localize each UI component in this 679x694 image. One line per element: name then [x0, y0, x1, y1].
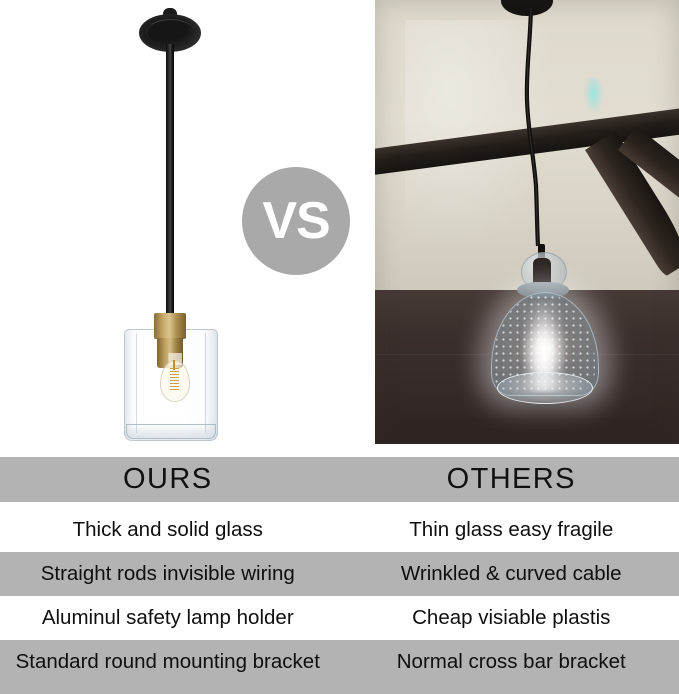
comparison-table: OURS OTHERS Thick and solid glass Thin g…	[0, 452, 679, 679]
cell-ours-3: Aluminul safety lamp holder	[0, 596, 344, 640]
photo-dome-bottom-rim	[497, 372, 593, 404]
brass-lamp-holder-upper	[154, 313, 186, 339]
wrinkled-curved-cable	[505, 8, 553, 246]
header-others: OTHERS	[344, 457, 679, 502]
comparison-infographic: VS	[0, 0, 679, 679]
others-product-image	[375, 0, 679, 444]
cell-others-1: Thin glass easy fragile	[344, 508, 679, 552]
table-footer-strip	[0, 684, 679, 694]
cell-others-4: Normal cross bar bracket	[344, 640, 679, 684]
cell-ours-2: Straight rods invisible wiring	[0, 552, 344, 596]
bulb-filament	[170, 368, 179, 392]
table-row: Straight rods invisible wiring Wrinkled …	[0, 552, 679, 596]
cell-ours-4: Standard round mounting bracket	[0, 640, 344, 684]
glass-inner-edge-left	[136, 333, 137, 433]
vs-badge-icon: VS	[242, 167, 350, 275]
photo-teal-reflection	[585, 78, 602, 112]
glass-bottom-rim	[126, 424, 216, 439]
vs-label: VS	[262, 195, 329, 247]
table-header-row: OURS OTHERS	[0, 457, 679, 502]
cell-others-3: Cheap visiable plastis	[344, 596, 679, 640]
cell-ours-1: Thick and solid glass	[0, 508, 344, 552]
table-row: Standard round mounting bracket Normal c…	[0, 640, 679, 684]
table-row: Thick and solid glass Thin glass easy fr…	[0, 508, 679, 552]
header-ours: OURS	[0, 457, 344, 502]
cable-svg	[505, 8, 553, 246]
table-row: Aluminul safety lamp holder Cheap visiab…	[0, 596, 679, 640]
glass-inner-edge-right	[205, 333, 206, 433]
product-comparison-images: VS	[0, 0, 679, 452]
cell-others-2: Wrinkled & curved cable	[344, 552, 679, 596]
straight-rod	[166, 44, 174, 317]
